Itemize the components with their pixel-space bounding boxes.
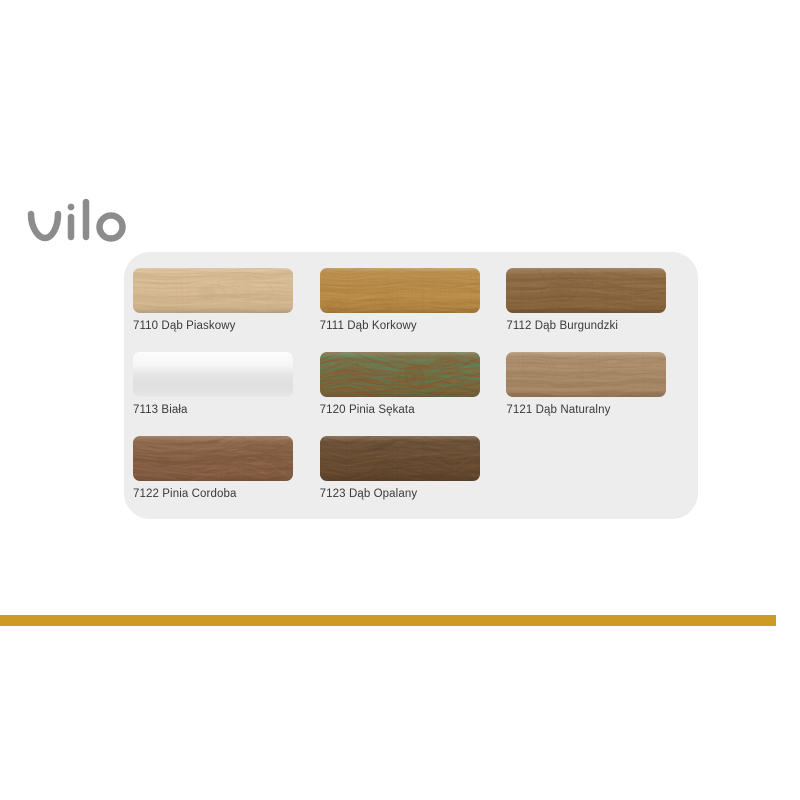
wood-grain-texture — [320, 352, 480, 397]
wood-grain-texture — [320, 436, 480, 481]
accent-bar — [0, 615, 776, 626]
wood-grain-texture — [506, 268, 666, 313]
swatch-item-7110[interactable]: 7110 Dąb Piaskowy — [133, 268, 320, 352]
swatch-item-7123[interactable]: 7123 Dąb Opalany — [320, 436, 507, 520]
swatch-row: 7122 Pinia Cordoba 7123 Dąb Opalany — [133, 436, 693, 520]
swatch-chip-7111[interactable] — [320, 268, 480, 313]
swatch-item-7112[interactable]: 7112 Dąb Burgundzki — [506, 268, 693, 352]
swatch-chip-7123[interactable] — [320, 436, 480, 481]
brand-logo — [26, 198, 136, 250]
swatch-panel: 7110 Dąb Piaskowy 7111 Dąb Korkowy 7112 … — [124, 252, 698, 519]
letter-i-dot-icon — [68, 204, 75, 211]
swatch-label: 7122 Pinia Cordoba — [133, 488, 320, 500]
swatch-chip-7122[interactable] — [133, 436, 293, 481]
swatch-chip-7110[interactable] — [133, 268, 293, 313]
swatch-label: 7123 Dąb Opalany — [320, 488, 507, 500]
swatch-label: 7113 Biała — [133, 404, 320, 416]
swatch-label: 7120 Pinia Sękata — [320, 404, 507, 416]
vilo-wordmark-icon — [26, 198, 136, 250]
swatch-label: 7112 Dąb Burgundzki — [506, 320, 693, 332]
swatch-item-7121[interactable]: 7121 Dąb Naturalny — [506, 352, 693, 436]
swatch-item-7111[interactable]: 7111 Dąb Korkowy — [320, 268, 507, 352]
wood-grain-texture — [320, 268, 480, 313]
swatch-label: 7121 Dąb Naturalny — [506, 404, 693, 416]
letter-o-icon — [100, 216, 123, 239]
solid-colour-texture — [133, 352, 293, 397]
swatch-label: 7110 Dąb Piaskowy — [133, 320, 320, 332]
swatch-chip-7112[interactable] — [506, 268, 666, 313]
swatch-row: 7110 Dąb Piaskowy 7111 Dąb Korkowy 7112 … — [133, 268, 693, 352]
swatch-label: 7111 Dąb Korkowy — [320, 320, 507, 332]
swatch-row: 7113 Biała 7120 Pinia Sękata 7121 Dąb Na… — [133, 352, 693, 436]
wood-grain-texture — [133, 268, 293, 313]
swatch-chip-7120[interactable] — [320, 352, 480, 397]
swatch-grid: 7110 Dąb Piaskowy 7111 Dąb Korkowy 7112 … — [133, 268, 693, 520]
swatch-item-7122[interactable]: 7122 Pinia Cordoba — [133, 436, 320, 520]
swatch-item-7113[interactable]: 7113 Biała — [133, 352, 320, 436]
wood-grain-texture — [133, 436, 293, 481]
swatch-item-7120[interactable]: 7120 Pinia Sękata — [320, 352, 507, 436]
wood-grain-texture — [506, 352, 666, 397]
swatch-chip-7121[interactable] — [506, 352, 666, 397]
swatch-chip-7113[interactable] — [133, 352, 293, 397]
